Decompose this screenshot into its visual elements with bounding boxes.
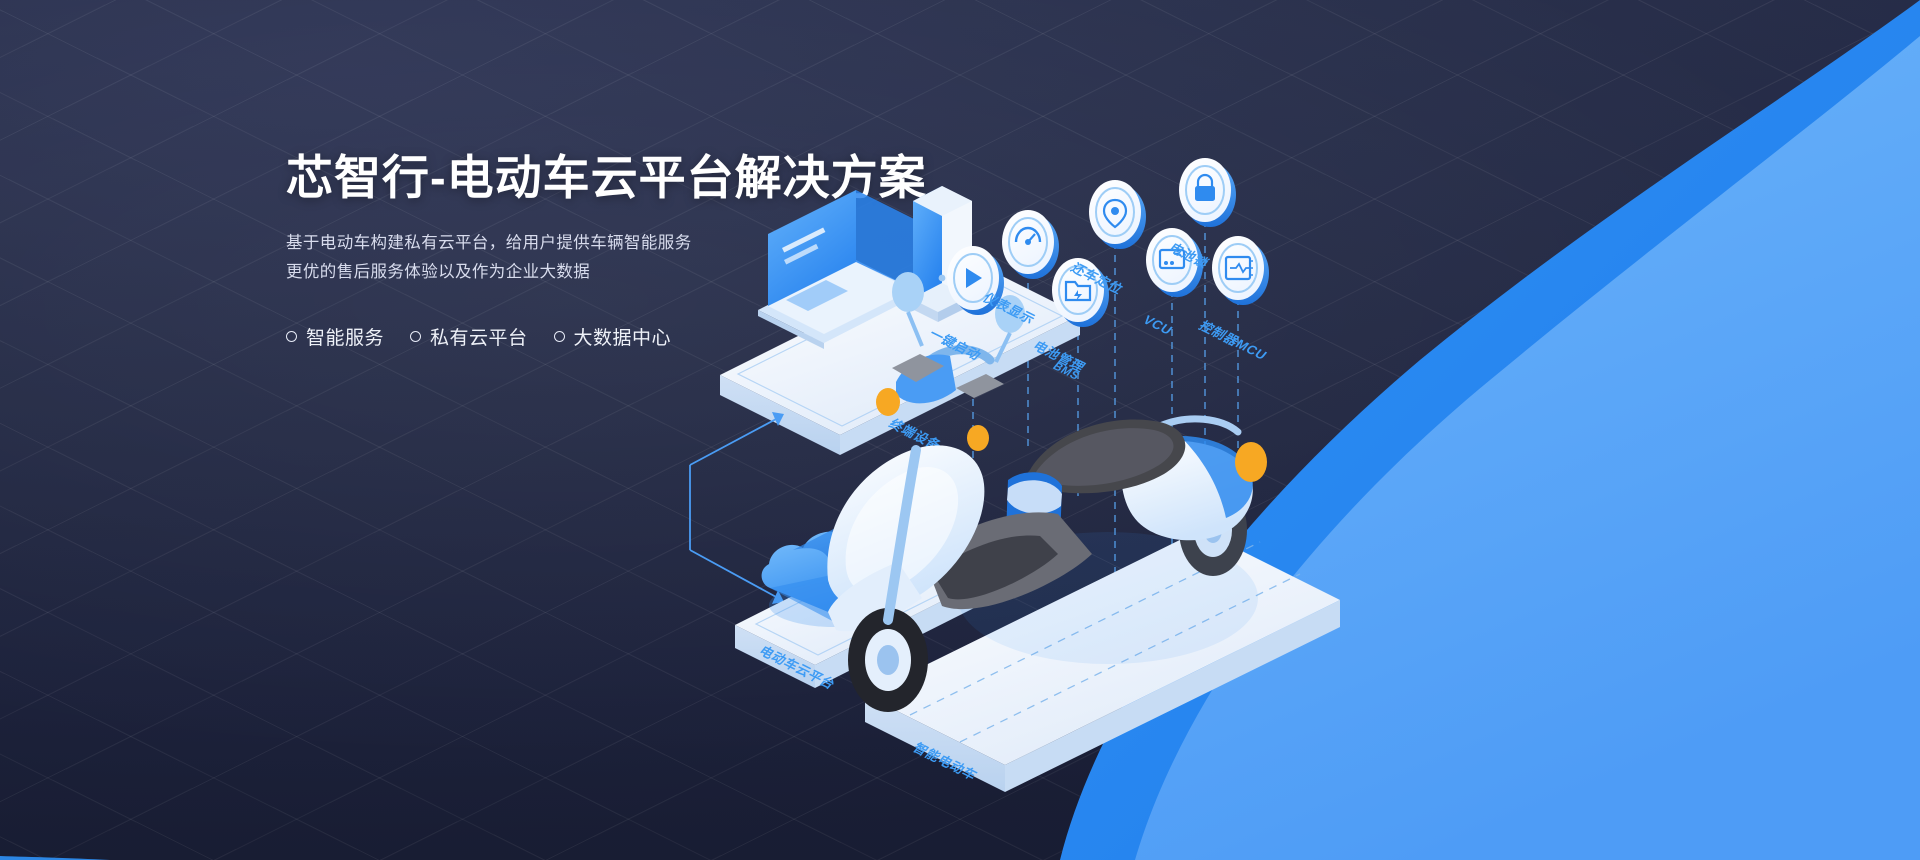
scooter-left-indicator	[876, 388, 900, 416]
bullet-circle-icon	[410, 331, 421, 342]
feature-label: 智能服务	[306, 323, 384, 350]
feature-item-private-cloud: 私有云平台	[410, 323, 528, 350]
wave-sliver-left	[0, 856, 110, 860]
feature-label: 大数据中心	[574, 323, 672, 350]
hero-banner: 芯智行-电动车云平台解决方案 基于电动车构建私有云平台，给用户提供车辆智能服务 …	[0, 0, 1920, 860]
isometric-illustration: 终端设备	[660, 150, 1920, 860]
feature-item-smart-service: 智能服务	[286, 323, 384, 350]
bullet-circle-icon	[554, 331, 565, 342]
bullet-circle-icon	[286, 331, 297, 342]
module-label: VCU	[1140, 313, 1176, 338]
feature-item-big-data-center: 大数据中心	[554, 323, 672, 350]
feature-label: 私有云平台	[430, 323, 528, 350]
module-coin-mcu-controller[interactable]: 控制器MCU	[1196, 236, 1271, 363]
module-label: 控制器MCU	[1196, 318, 1271, 363]
scooter-tail-light	[1235, 442, 1267, 482]
scooter-right-indicator	[967, 425, 989, 451]
